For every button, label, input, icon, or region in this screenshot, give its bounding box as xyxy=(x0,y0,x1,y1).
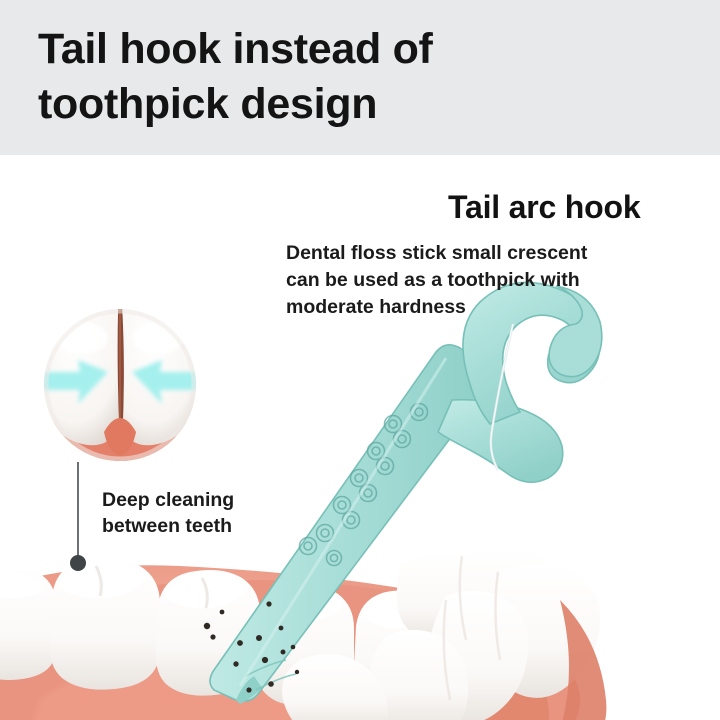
teeth-arch-right xyxy=(282,548,600,720)
tooth-gap-closeup xyxy=(4,298,228,494)
teeth-front-row xyxy=(0,558,452,710)
callout-leader-line xyxy=(77,462,79,560)
page-title: Tail hook instead of toothpick design xyxy=(38,22,638,132)
arrow-left-icon xyxy=(4,360,108,404)
floss-thread xyxy=(491,324,513,470)
grip-dimples xyxy=(300,404,428,566)
lower-jaw-arch xyxy=(0,548,606,720)
infographic-page: Tail hook instead of toothpick design xyxy=(0,0,720,720)
feature-description: Dental floss stick small crescent can be… xyxy=(286,240,606,321)
feature-heading: Tail arc hook xyxy=(448,188,640,226)
plaque-debris xyxy=(204,601,299,692)
callout-label: Deep cleaning between teeth xyxy=(102,487,292,539)
arrow-right-icon xyxy=(132,360,228,404)
callout-leader-dot xyxy=(70,555,86,571)
